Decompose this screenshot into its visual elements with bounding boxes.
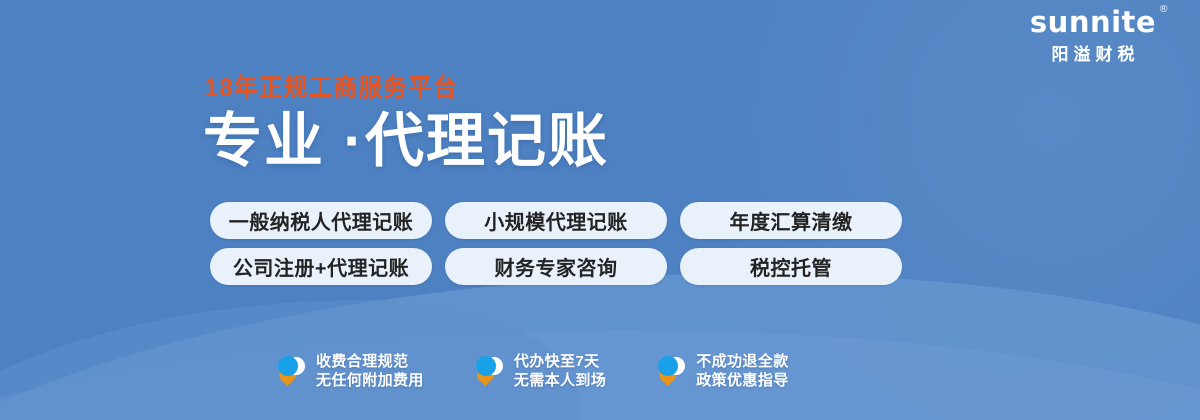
hero-eyebrow: 18年正规工商服务平台 xyxy=(205,76,458,101)
feature-line-1: 代办快至7天 xyxy=(514,352,606,371)
feature-item-guarantee: 不成功退全款 政策优惠指导 xyxy=(656,352,788,390)
feature-line-1: 收费合理规范 xyxy=(316,352,424,371)
service-pill-general-taxpayer[interactable]: 一般纳税人代理记账 xyxy=(210,202,432,239)
half-moon-drop-icon xyxy=(276,355,306,387)
feature-line-2: 政策优惠指导 xyxy=(696,371,788,390)
service-pill-annual-settlement[interactable]: 年度汇算清缴 xyxy=(680,202,902,239)
feature-text-pricing: 收费合理规范 无任何附加费用 xyxy=(316,352,424,390)
feature-text-speed: 代办快至7天 无需本人到场 xyxy=(514,352,606,390)
feature-item-speed: 代办快至7天 无需本人到场 xyxy=(474,352,606,390)
service-pill-company-registration[interactable]: 公司注册+代理记账 xyxy=(210,248,432,285)
promo-banner: sunnite® 阳溢财税 18年正规工商服务平台 专业 ·代理记账 一般纳税人… xyxy=(0,0,1200,420)
brand-chinese-name: 阳溢财税 xyxy=(1008,46,1178,63)
service-pill-tax-control-custody[interactable]: 税控托管 xyxy=(680,248,902,285)
feature-line-2: 无任何附加费用 xyxy=(316,371,424,390)
registered-trademark-icon: ® xyxy=(1159,5,1170,15)
service-pill-expert-consulting[interactable]: 财务专家咨询 xyxy=(445,248,667,285)
service-pill-grid: 一般纳税人代理记账 小规模代理记账 年度汇算清缴 公司注册+代理记账 财务专家咨… xyxy=(210,202,902,285)
feature-item-pricing: 收费合理规范 无任何附加费用 xyxy=(276,352,424,390)
half-moon-drop-icon xyxy=(474,355,504,387)
feature-line-1: 不成功退全款 xyxy=(696,352,788,371)
feature-text-guarantee: 不成功退全款 政策优惠指导 xyxy=(696,352,788,390)
half-moon-drop-icon xyxy=(656,355,686,387)
dot-shape xyxy=(476,356,496,376)
dot-shape xyxy=(278,356,298,376)
feature-strip: 收费合理规范 无任何附加费用 代办快至7天 无需本人到场 不成功退全款 xyxy=(276,352,789,390)
service-pill-small-scale[interactable]: 小规模代理记账 xyxy=(445,202,667,239)
page-title: 专业 ·代理记账 xyxy=(203,112,609,171)
brand-wordmark: sunnite® xyxy=(1030,8,1156,37)
brand-logo[interactable]: sunnite® 阳溢财税 xyxy=(1008,8,1178,63)
feature-line-2: 无需本人到场 xyxy=(514,371,606,390)
